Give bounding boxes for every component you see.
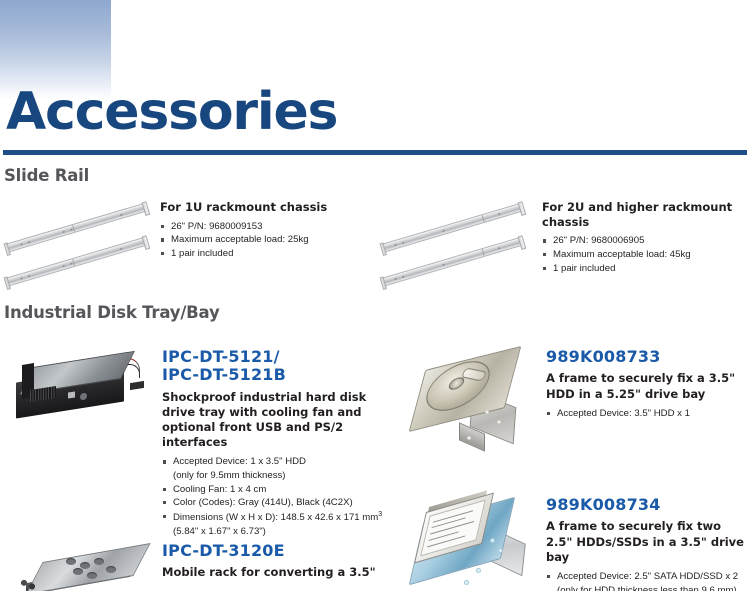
ipc-dt-3120e-block: IPC-DT-3120E Mobile rack for converting …	[162, 542, 392, 581]
vent-hole	[73, 568, 83, 575]
rail-screw	[498, 213, 500, 215]
product-description: A frame to securely fix a 3.5" HDD in a …	[546, 371, 750, 401]
frame-screw	[497, 420, 501, 424]
label-text-line	[431, 517, 465, 528]
ipc-dt-5121-image	[10, 352, 150, 420]
frame-screw	[464, 580, 469, 585]
rail-front-bracket	[379, 276, 387, 290]
rail-screw	[28, 241, 30, 243]
rail-screw	[20, 243, 22, 245]
ipc-dt-3120e-image	[18, 552, 158, 591]
section-heading-slide-rail: Slide Rail	[4, 166, 89, 185]
rail-screw	[394, 278, 396, 280]
slide-rail-1u-image	[2, 200, 154, 288]
usb-port	[68, 391, 75, 398]
slide-rail-2u-image	[378, 200, 530, 288]
list-item: 26" P/N: 9680006905	[542, 234, 750, 248]
product-code: IPC-DT-5121/	[162, 348, 392, 366]
list-item: Accepted Device: 1 x 3.5" HDD (only for …	[162, 455, 392, 482]
list-item: Cooling Fan: 1 x 4 cm	[162, 483, 392, 497]
frame-screw	[476, 568, 481, 573]
frame-989k008733-spec-list: Accepted Device: 3.5" HDD x 1	[546, 407, 750, 421]
list-item: Accepted Device: 2.5" SATA HDD/SSD x 2 (…	[546, 570, 750, 591]
list-item: 1 pair included	[542, 262, 750, 276]
cable-connector	[130, 381, 144, 390]
rail-screw	[62, 265, 64, 267]
spec-subtext: (5.84" x 1.67" x 6.73")	[173, 525, 392, 539]
slide-rail-2u-spec-list: 26" P/N: 9680006905 Maximum acceptable l…	[542, 234, 750, 275]
slide-rail-1u-spec-list: 26" P/N: 9680009153 Maximum acceptable l…	[160, 220, 375, 261]
rail-rear-bracket	[141, 235, 150, 250]
page-title: Accessories	[6, 86, 337, 138]
rail-seam	[72, 225, 75, 232]
slide-rail-2u-heading: For 2U and higher rackmount chassis	[542, 200, 750, 229]
product-description: Mobile rack for converting a 3.5"	[162, 565, 392, 580]
title-divider	[3, 150, 747, 155]
rail-screw	[402, 241, 404, 243]
frame-screw	[490, 538, 495, 543]
spec-text: Dimensions (W x H x D): 148.5 x 42.6 x 1…	[173, 512, 378, 523]
slide-rail-1u-heading: For 1U rackmount chassis	[160, 200, 375, 215]
rail-seam	[72, 259, 75, 266]
spec-subtext: (only for 9.5mm thickness)	[173, 469, 392, 483]
slide-rail-1u-block: For 1U rackmount chassis 26" P/N: 968000…	[160, 200, 375, 261]
list-item: Color (Codes): Gray (414U), Black (4C2X)	[162, 496, 392, 510]
spec-text: Accepted Device: 3.5" HDD x 1	[557, 408, 690, 419]
rail-rear-bracket	[517, 235, 526, 250]
spec-text: Cooling Fan: 1 x 4 cm	[173, 484, 266, 495]
list-item: Dimensions (W x H x D): 148.5 x 42.6 x 1…	[162, 510, 392, 538]
rail-screw	[120, 248, 122, 250]
frame-screw	[498, 548, 503, 553]
frame-989k008734-image	[416, 496, 532, 591]
vent-hole	[80, 562, 90, 569]
rail-rear-bracket	[517, 201, 526, 216]
list-item: 1 pair included	[160, 247, 375, 261]
rail-screw	[20, 277, 22, 279]
spec-text: Accepted Device: 1 x 3.5" HDD	[173, 456, 306, 467]
list-item: 26" P/N: 9680009153	[160, 220, 375, 234]
rail-screw	[62, 231, 64, 233]
vent-hole	[106, 566, 116, 573]
rail-screw	[70, 228, 72, 230]
rail-rear-bracket	[141, 201, 150, 216]
rail-screw	[402, 275, 404, 277]
rail-seam	[481, 249, 484, 256]
frame-989k008734-block: 989K008734 A frame to securely fix two 2…	[546, 496, 750, 591]
rail-screw	[120, 214, 122, 216]
spec-subtext: (only for HDD thickness less than 9.6 mm…	[557, 584, 750, 591]
rail-screw	[28, 275, 30, 277]
product-description: Shockproof industrial hard disk drive tr…	[162, 390, 392, 451]
frame-989k008733-image	[415, 350, 535, 450]
rail-screw	[70, 262, 72, 264]
ipc-dt-5121-block: IPC-DT-5121/ IPC-DT-5121B Shockproof ind…	[162, 348, 392, 538]
spec-text: Accepted Device: 2.5" SATA HDD/SSD x 2	[557, 571, 738, 582]
frame-989k008733-block: 989K008733 A frame to securely fix a 3.5…	[546, 348, 750, 420]
rail-screw	[498, 247, 500, 249]
rail-front-bracket	[3, 276, 11, 290]
frame-screw	[485, 410, 489, 414]
spec-superscript: 3	[378, 511, 382, 518]
accessories-catalog-page: Accessories Slide Rail For 1U rackmount …	[0, 0, 750, 591]
list-item: Maximum acceptable load: 45kg	[542, 248, 750, 262]
vent-hole	[94, 558, 104, 565]
product-code: 989K008733	[546, 348, 750, 366]
product-code: IPC-DT-3120E	[162, 542, 392, 560]
mounting-hardware	[18, 578, 38, 590]
rail-front-bracket	[379, 242, 387, 256]
rail-front-bracket	[3, 242, 11, 256]
slide-rail-2u-block: For 2U and higher rackmount chassis 26" …	[542, 200, 750, 275]
rail-screw	[394, 244, 396, 246]
product-description: A frame to securely fix two 2.5" HDDs/SS…	[546, 519, 750, 565]
ipc-dt-5121-spec-list: Accepted Device: 1 x 3.5" HDD (only for …	[162, 455, 392, 538]
list-item: Maximum acceptable load: 25kg	[160, 233, 375, 247]
product-code: 989K008734	[546, 496, 750, 514]
rail-screw	[442, 264, 444, 266]
product-code-variant: IPC-DT-5121B	[162, 366, 392, 384]
rail-screw	[442, 230, 444, 232]
frame-989k008734-spec-list: Accepted Device: 2.5" SATA HDD/SSD x 2 (…	[546, 570, 750, 591]
section-heading-disk-tray: Industrial Disk Tray/Bay	[4, 303, 220, 322]
frame-screw	[467, 436, 471, 440]
rail-seam	[481, 215, 484, 222]
vent-hole	[87, 572, 97, 579]
spec-text: Color (Codes): Gray (414U), Black (4C2X)	[173, 497, 353, 508]
list-item: Accepted Device: 3.5" HDD x 1	[546, 407, 750, 421]
vent-hole	[66, 558, 76, 565]
